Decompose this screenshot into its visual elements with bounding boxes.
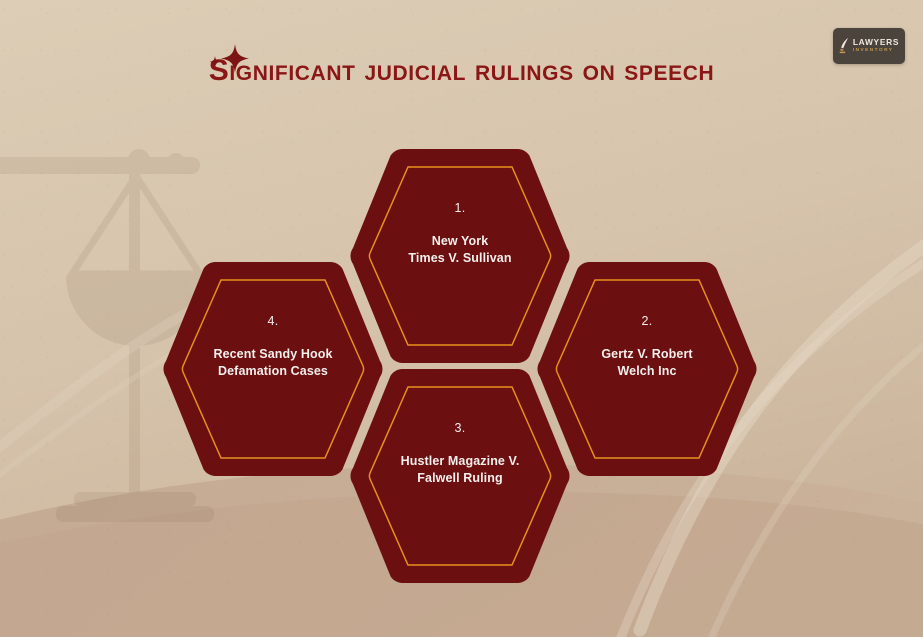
brand-logo[interactable]: LAWYERS INVENTORY: [833, 28, 905, 64]
logo-name: LAWYERS: [853, 38, 899, 46]
infographic-canvas: Significant Judicial Rulings On Speech L…: [0, 0, 923, 637]
sparkle-star-icon: [207, 42, 253, 82]
logo-subtitle: INVENTORY: [853, 48, 899, 53]
hexagon-shape-4: [163, 262, 382, 476]
page-title: Significant Judicial Rulings On Speech: [182, 52, 742, 90]
title-block: Significant Judicial Rulings On Speech: [0, 52, 923, 90]
quill-pen-icon: [839, 37, 850, 54]
hexagon-item-4[interactable]: 4. Recent Sandy Hook Defamation Cases: [158, 254, 388, 484]
